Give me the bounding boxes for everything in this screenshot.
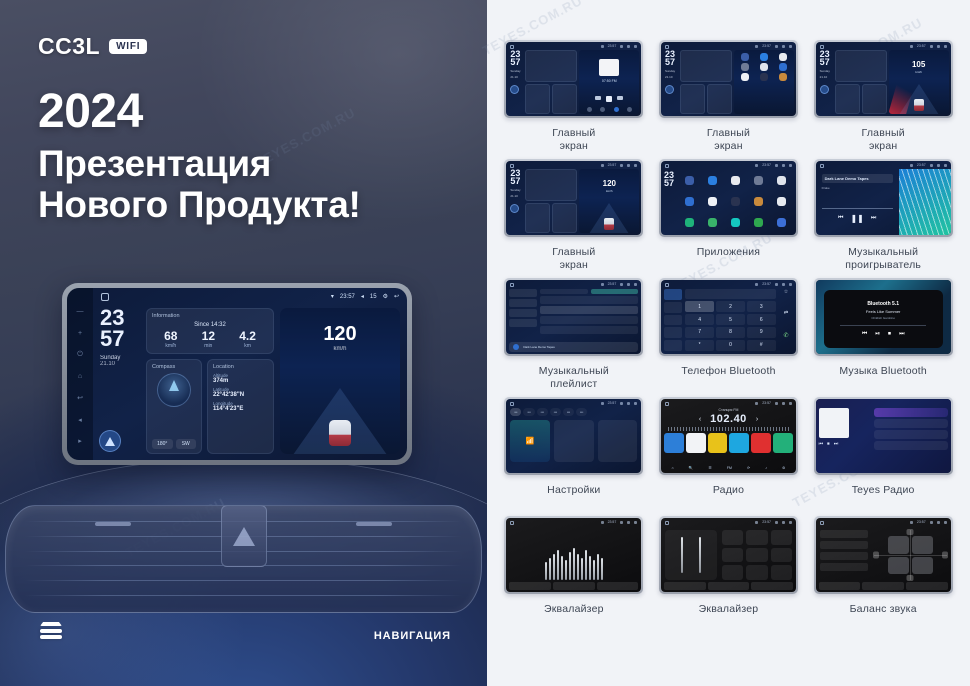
screen-thumbnail[interactable]: 23:572357Sunday21.10 [659,40,798,118]
eq-tab[interactable] [509,582,551,590]
screen-preview[interactable]: 23:57 [816,518,951,592]
location-card[interactable]: Location Altitude 374m Latitude 22°42'38… [207,359,274,454]
balance-tab[interactable] [819,582,861,590]
app-icon[interactable] [685,218,694,227]
dialpad-key[interactable]: * [685,340,714,351]
home-icon[interactable] [510,283,514,287]
eq-tab[interactable] [597,582,639,590]
screen-preview[interactable]: 23:57••••••••••••••••••📶 [506,399,641,473]
clock-minutes: 57 [100,329,140,350]
balance-preset[interactable] [820,563,868,571]
radio-preset[interactable] [729,433,749,453]
screen-thumbnail[interactable]: 23:57 [504,516,643,594]
settings-tab[interactable]: ••• [563,408,574,416]
screen-preview[interactable]: 23:57Станция FM‹102.40›⌂🔍☰FM⟳♪⚙ [661,399,796,473]
mini-information-card[interactable] [835,50,887,82]
prev-icon[interactable] [595,96,601,100]
progress-bar[interactable] [822,208,893,209]
mini-location-card[interactable] [552,203,577,233]
stop-icon[interactable] [606,96,612,102]
screen-thumbnail[interactable]: 23:57Dark Lane Demo TapesDrake⏮❚❚⏭ [814,159,953,237]
balance-preset[interactable] [820,552,868,560]
radio-preset[interactable] [664,433,684,453]
volume-icon: ◂ [361,293,364,300]
now-playing-artist: Drake [822,186,893,190]
balance-preset[interactable] [820,541,868,549]
eq-slider[interactable] [601,558,603,580]
home-icon[interactable] [510,164,514,168]
next-icon[interactable]: ⏭ [871,215,876,222]
head-unit-device: — + ⏻ ⌂ ↩ ◂ ▸ ▾ 23:57 ◂ 15 ⚙ [62,283,412,465]
gear-icon [627,45,630,48]
teyes-radio-row[interactable] [874,430,948,439]
dialpad-key[interactable]: 0 [716,340,745,351]
balance-up-button[interactable] [907,529,914,535]
settings-icon[interactable]: ⚙ [383,293,388,300]
app-icon[interactable] [685,176,694,185]
band-icon[interactable]: FM [727,466,732,470]
screen-card[interactable]: 23:57123456789*0#☆⇄✆Телефон Bluetooth [656,278,802,395]
scan-icon[interactable]: ⟳ [747,466,750,470]
mini-compass-card[interactable] [525,84,550,114]
next-station-icon[interactable]: › [756,416,758,423]
volume-icon [775,45,778,48]
screen-preview[interactable]: 23:572357Sunday21.10120km/h [506,161,641,235]
app-icon[interactable] [731,218,740,227]
screen-card[interactable]: 23:57Станция FM‹102.40›⌂🔍☰FM⟳♪⚙Радио [656,397,802,514]
next-icon[interactable]: ⏭ [834,441,839,447]
screen-preview[interactable]: 23:57 [506,518,641,592]
eq-slider[interactable] [569,552,571,580]
eq-slider[interactable] [593,560,595,580]
app-icon[interactable] [741,63,749,71]
app-grid[interactable] [679,171,793,232]
home-icon[interactable] [510,402,514,406]
equalizer-tabs[interactable] [509,582,638,590]
hotspot-tile[interactable] [554,420,594,462]
eq-slider[interactable] [553,554,555,580]
equalizer-simple-screen[interactable] [665,530,792,580]
logo-wifi-badge: WIFI [109,39,147,55]
eq-fader-group[interactable] [665,530,717,580]
mini-information-card[interactable] [525,169,577,201]
media-source-row[interactable] [582,107,636,112]
information-card[interactable]: Information Since 14:32 68 km/h 12 [146,308,274,354]
app-icon[interactable] [777,218,786,227]
screen-card[interactable]: 23:57Dark Lane Demo TapesDrake⏮❚❚⏭Музыка… [810,159,956,276]
back-icon [634,164,637,167]
mini-clock: 2357 [664,171,674,188]
dialpad-key[interactable]: 5 [716,314,745,325]
radio-toolbar[interactable]: ⌂🔍☰FM⟳♪⚙ [664,466,793,470]
screen-preview[interactable]: 23:572357Sunday21.10 [661,42,796,116]
screen-caption: Радио [713,484,744,497]
app-icon[interactable] [777,197,786,206]
settings-screen[interactable]: ••••••••••••••••••📶 [510,408,637,469]
thumb-status-bar: 23:57 [816,42,951,50]
screen-card[interactable]: 23:572357Sunday21.10105km/hГлавныйэкран [810,40,956,157]
screen-preview[interactable]: 23:572357 [661,161,796,235]
clock-widget: 23 57 Sunday 21.10 [100,308,140,454]
eq-tab[interactable] [708,582,750,590]
screen-card[interactable]: 23:572357Sunday21.10Главныйэкран [656,40,802,157]
mini-compass-card[interactable] [525,203,550,233]
mini-clock: 2357Sunday21.10 [663,50,678,114]
app-icon[interactable] [760,63,768,71]
altitude-value: 374m [213,378,268,384]
home-icon[interactable]: ⌂ [672,466,674,470]
prev-station-icon[interactable]: ‹ [699,416,701,423]
volume-icon [620,521,623,524]
home-icon[interactable] [665,521,669,525]
home-icon[interactable] [665,283,669,287]
radio-preset[interactable] [773,433,793,453]
eq-preset-pad[interactable] [771,565,792,580]
screen-preview[interactable]: 23:57Dark Lane Demo Tapes [506,280,641,354]
list-icon[interactable]: ☰ [708,466,711,470]
power-key[interactable]: ⏻ [77,343,83,361]
eq-preset-pad[interactable] [722,548,743,563]
search-icon[interactable]: 🔍 [689,466,693,470]
mini-compass-card[interactable] [835,84,860,114]
screen-caption: Баланс звука [850,603,917,616]
app-icon[interactable] [741,73,749,81]
trip-stat: 68 km/h [164,330,177,349]
screen-caption: Главныйэкран [862,127,905,153]
eq-tab[interactable] [553,582,595,590]
eq-slider[interactable] [577,554,579,580]
next-icon[interactable] [617,96,623,100]
radio-preset[interactable] [751,433,771,453]
mini-info-column [835,50,887,114]
screen-thumbnail[interactable]: 23:572357Sunday21.10105km/h [814,40,953,118]
progress-bar[interactable] [840,325,926,326]
app-icon[interactable] [777,176,786,185]
screen-thumbnail[interactable]: 23:57 [814,516,953,594]
wifi-icon: ▾ [331,293,334,300]
screen-card[interactable]: 23:57Dark Lane Demo TapesМузыкальныйплей… [501,278,647,395]
media-transport-controls[interactable] [579,96,639,102]
mini-information-card[interactable] [680,50,732,82]
playlist-row[interactable] [540,306,638,314]
thumb-status-bar: 23:57 [661,42,796,50]
radio-preset[interactable] [686,433,706,453]
volume-up-key[interactable]: + [78,322,82,340]
head-unit-screen[interactable]: — + ⏻ ⌂ ↩ ◂ ▸ ▾ 23:57 ◂ 15 ⚙ [67,288,407,460]
favorite-icon[interactable]: ☆ [779,289,793,308]
car-graphic [914,99,924,111]
balance-tab[interactable] [906,582,948,590]
thumb-clock: 23:57 [608,44,617,48]
screen-preview[interactable]: 23:57 [661,518,796,592]
equalizer-sliders[interactable] [510,528,637,580]
eq-slider[interactable] [545,562,547,580]
mini-location-card[interactable] [552,84,577,114]
home-icon[interactable] [820,164,824,168]
teyes-radio-row[interactable] [874,419,948,428]
mini-information-card[interactable] [525,50,577,82]
eq-preset-pad[interactable] [771,548,792,563]
screen-card[interactable]: 23:572357Приложения [656,159,802,276]
screen-thumbnail[interactable]: 23:57Dark Lane Demo Tapes [504,278,643,356]
more-tile[interactable] [598,420,638,462]
mini-media-widget[interactable]: 07:50 FM [579,50,639,114]
stop-icon[interactable]: ⏹ [827,441,830,447]
eq-preset-pad[interactable] [746,530,767,545]
equalizer-tabs[interactable] [664,582,793,590]
navigation-button[interactable] [510,85,519,94]
screen-thumbnail[interactable]: 23:572357 [659,159,798,237]
mini-location-card[interactable] [862,84,887,114]
eq-preset-pad[interactable] [722,530,743,545]
app-icon[interactable] [760,53,768,61]
mini-app-drawer[interactable] [734,50,794,114]
previous-icon[interactable]: ⏮ [838,215,843,222]
home-key[interactable]: ⌂ [78,365,82,383]
trip-stat-unit: km [239,343,256,349]
speaker-icon [912,557,933,575]
eq-fader[interactable] [681,537,683,573]
player-bar[interactable]: Dark Lane Demo Tapes [509,342,638,352]
dialpad-key[interactable]: 1 [685,301,714,312]
mini-compass-card[interactable] [680,84,705,114]
dialpad-key[interactable]: 6 [747,314,776,325]
playlist-category[interactable] [509,289,537,297]
screen-preview[interactable]: 23:57123456789*0#☆⇄✆ [661,280,796,354]
phone-action-rail[interactable]: ☆⇄✆ [779,289,793,351]
screen-thumbnail[interactable]: 23:57 [659,516,798,594]
screen-card[interactable]: 23:57⏮⏹⏭Teyes Радио [810,397,956,514]
app-icon[interactable] [779,53,787,61]
screen-preview[interactable]: 23:572357Sunday21.10105km/h [816,42,951,116]
home-icon[interactable] [820,45,824,49]
settings-tab[interactable]: ••• [576,408,587,416]
thumb-clock: 23:57 [608,163,617,167]
screens-gallery-panel: TEYES.COM.RU TEYES.COM.RU TEYES.COM.RU T… [487,0,970,686]
previous-icon[interactable]: ⏮ [819,441,824,447]
dialpad-key[interactable]: 2 [716,301,745,312]
wifi-icon [755,402,758,405]
sound-balance-screen[interactable] [820,530,947,580]
screen-card[interactable]: 23:57Эквалайзер [656,516,802,633]
balance-left-button[interactable] [873,552,879,559]
screen-card[interactable]: 23:572357Sunday21.1007:50 FMГлавныйэкран [501,40,647,157]
playlist-category[interactable] [509,309,537,317]
app-icon[interactable] [708,197,717,206]
wifi-icon [755,164,758,167]
teyes-radio-row[interactable] [874,441,948,450]
thumb-clock: 23:57 [917,163,926,167]
eq-icon[interactable]: ♪ [765,466,767,470]
screen-thumbnail[interactable]: 23:572357Sunday21.10120km/h [504,159,643,237]
back-icon[interactable]: ↩ [394,293,399,300]
screen-preview[interactable]: 23:57⏮⏹⏭ [816,399,951,473]
eq-preset-pad[interactable] [746,548,767,563]
balance-preset[interactable] [820,530,868,538]
wifi-icon [910,521,913,524]
app-icon[interactable] [779,73,787,81]
screen-thumbnail[interactable]: 23:57Станция FM‹102.40›⌂🔍☰FM⟳♪⚙ [659,397,798,475]
balance-right-button[interactable] [942,552,948,559]
app-icon[interactable] [741,53,749,61]
screen-card[interactable]: 23:57••••••••••••••••••📶Настройки [501,397,647,514]
eq-slider[interactable] [565,560,567,580]
pause-icon[interactable]: ❚❚ [850,214,863,223]
thumb-clock: 23:57 [917,44,926,48]
home-icon[interactable] [820,521,824,525]
balance-tabs[interactable] [819,582,948,590]
dialpad-key[interactable]: # [747,340,776,351]
home-icon[interactable] [101,293,109,301]
eq-preset-pad[interactable] [771,530,792,545]
app-icon[interactable] [731,176,740,185]
phone-nav-rail[interactable] [664,289,682,351]
home-icon[interactable] [665,402,669,406]
volume-down-key[interactable]: — [77,300,84,318]
eq-slider[interactable] [581,558,583,580]
screen-thumbnail[interactable]: 23:572357Sunday21.1007:50 FM [504,40,643,118]
next-icon[interactable]: ⏭ [899,331,904,338]
wifi-tile[interactable]: 📶 [510,420,550,462]
app-icon[interactable] [731,197,740,206]
dialpad-key[interactable]: 4 [685,314,714,325]
bluetooth-music-screen[interactable]: Bluetooth 5.1Feels Like SummerChildish G… [816,280,951,354]
home-icon[interactable] [665,45,669,49]
transport-controls[interactable]: ⏮⏯⏹⏭ [862,331,905,338]
screen-thumbnail[interactable]: 23:57⏮⏹⏭ [814,397,953,475]
hazard-light-button[interactable] [221,505,267,567]
playlist-row[interactable] [540,296,638,304]
vent-strip [95,522,131,526]
balance-pad[interactable] [874,530,947,580]
balance-down-button[interactable] [907,575,914,581]
app-icon[interactable] [754,218,763,227]
stop-icon[interactable]: ⏹ [888,331,891,338]
mini-driving-view[interactable]: 120km/h [579,169,639,233]
back-icon [634,402,637,405]
play-pause-icon[interactable]: ⏯ [875,331,880,338]
teyes-radio-screen[interactable]: ⏮⏹⏭ [816,399,951,473]
app-icon[interactable] [754,176,763,185]
dialpad-key[interactable]: 3 [747,301,776,312]
mini-driving-view[interactable]: 105km/h [889,50,949,114]
navigation-button[interactable] [99,430,121,452]
eq-slider[interactable] [585,550,587,580]
navigation-button[interactable] [510,204,519,213]
transport-controls[interactable]: ⏮⏹⏭ [819,441,871,447]
eq-slider[interactable] [557,550,559,580]
thumb-status-bar: 23:57 [816,161,951,169]
navigation-button[interactable] [665,85,674,94]
car-graphic [604,218,614,230]
mini-speed-unit: km/h [579,189,639,193]
settings-tab[interactable]: ••• [523,408,534,416]
screen-thumbnail[interactable]: 23:57Bluetooth 5.1Feels Like SummerChild… [814,278,953,356]
app-icon[interactable] [760,73,768,81]
number-display[interactable] [685,289,776,299]
app-icon[interactable] [708,176,717,185]
screen-card[interactable]: 23:57Эквалайзер [501,516,647,633]
thumb-clock: 23:57 [762,520,771,524]
eq-slider[interactable] [589,556,591,580]
teyes-radio-row[interactable] [874,408,948,417]
screen-caption: Приложения [697,246,760,259]
mini-home-screen: 2357Sunday21.10 [663,50,794,114]
screen-card[interactable]: 23:57Баланс звука [810,516,956,633]
settings-tab[interactable]: ••• [537,408,548,416]
eq-slider[interactable] [573,548,575,580]
screen-preview[interactable]: 23:572357Sunday21.1007:50 FM [506,42,641,116]
eq-tab[interactable] [751,582,793,590]
radio-screen[interactable]: Станция FM‹102.40›⌂🔍☰FM⟳♪⚙ [664,408,793,470]
next-track-key[interactable]: ▸ [78,430,82,448]
app-icon[interactable] [779,63,787,71]
home-icon[interactable] [510,521,514,525]
mini-clock: 2357Sunday21.10 [818,50,833,114]
mini-clock: 2357Sunday21.10 [508,50,523,114]
screen-card[interactable]: 23:572357Sunday21.10120km/hГлавныйэкран [501,159,647,276]
playlist-row[interactable] [540,326,638,334]
app-icon[interactable] [685,197,694,206]
call-icon[interactable]: ✆ [779,332,793,351]
navigation-button[interactable] [820,85,829,94]
app-icon[interactable] [708,218,717,227]
playlist-row[interactable] [540,316,638,324]
settings-tab[interactable]: ••• [550,408,561,416]
dialpad-key[interactable]: 9 [747,327,776,338]
thumb-status-bar: 23:57 [661,518,796,526]
eq-preset-pad[interactable] [746,565,767,580]
eq-tab[interactable] [664,582,706,590]
screen-thumbnail[interactable]: 23:57••••••••••••••••••📶 [504,397,643,475]
tuning-scale[interactable] [668,427,789,431]
screen-preview[interactable]: 23:57Dark Lane Demo TapesDrake⏮❚❚⏭ [816,161,951,235]
mini-home-screen: 2357Sunday21.10120km/h [508,169,639,233]
dialpad-key[interactable]: 7 [685,327,714,338]
screen-card[interactable]: 23:57Bluetooth 5.1Feels Like SummerChild… [810,278,956,395]
screen-preview[interactable]: 23:57Bluetooth 5.1Feels Like SummerChild… [816,280,951,354]
eq-preset-pad[interactable] [722,565,743,580]
playlist-category[interactable] [509,299,537,307]
home-icon[interactable] [665,164,669,168]
prev-track-key[interactable]: ◂ [78,409,82,427]
mini-location-card[interactable] [707,84,732,114]
side-key-rail[interactable]: — + ⏻ ⌂ ↩ ◂ ▸ [67,288,93,460]
music-player-screen[interactable]: Dark Lane Demo TapesDrake⏮❚❚⏭ [816,169,951,235]
eq-slider[interactable] [597,554,599,580]
screen-thumbnail[interactable]: 23:57123456789*0#☆⇄✆ [659,278,798,356]
transport-controls[interactable]: ⏮❚❚⏭ [822,214,893,223]
settings-tab[interactable]: ••• [510,408,521,416]
eq-fader[interactable] [699,537,701,573]
home-icon[interactable] [510,45,514,49]
settings-icon[interactable]: ⚙ [782,466,785,470]
playlist-category[interactable] [509,319,537,327]
balance-tab[interactable] [862,582,904,590]
bluetooth-phone-screen[interactable]: 123456789*0#☆⇄✆ [664,289,793,351]
app-icon[interactable] [754,197,763,206]
dialpad-key[interactable]: 8 [716,327,745,338]
back-key[interactable]: ↩ [77,387,83,405]
driving-view-widget[interactable]: 120 km/h [280,308,400,454]
eq-slider[interactable] [549,558,551,580]
compass-card[interactable]: Compass 180° SW [146,359,202,454]
sync-icon[interactable]: ⇄ [779,310,793,329]
back-icon [944,164,947,167]
radio-preset[interactable] [708,433,728,453]
previous-icon[interactable]: ⏮ [862,331,867,338]
eq-slider[interactable] [561,556,563,580]
